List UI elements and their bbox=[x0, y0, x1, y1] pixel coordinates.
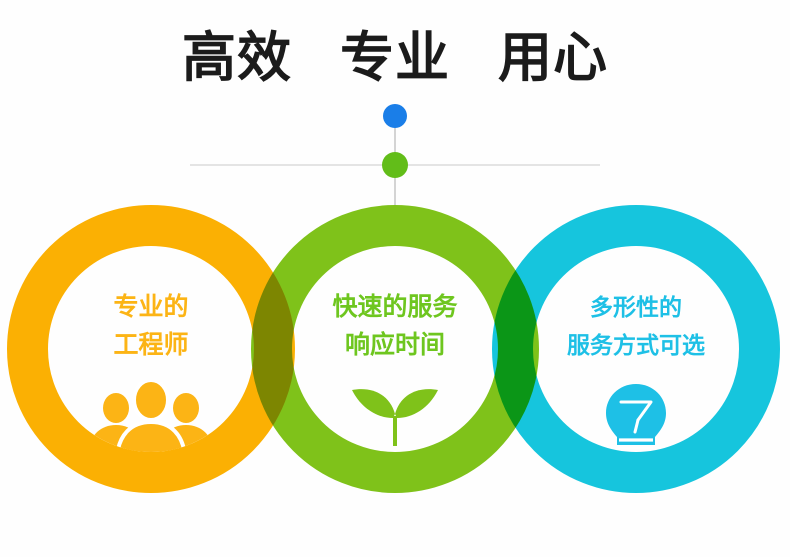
circle-label-response-time: 快速的服务 响应时间 bbox=[292, 246, 498, 364]
circle-response-line2: 响应时间 bbox=[292, 326, 498, 364]
circle-engineers-line2: 工程师 bbox=[48, 326, 254, 364]
circle-content-engineers: 专业的 工程师 bbox=[48, 246, 254, 452]
circle-service-line1: 多形性的 bbox=[590, 294, 682, 320]
circle-response-line1: 快速的服务 bbox=[332, 293, 457, 321]
sprout-leaf-icon bbox=[292, 382, 498, 452]
infographic-canvas: 高效专业用心 专业的 工程师 bbox=[0, 0, 790, 557]
circle-engineers-line1: 专业的 bbox=[113, 293, 188, 321]
team-people-icon bbox=[48, 382, 254, 452]
circle-label-engineers: 专业的 工程师 bbox=[48, 246, 254, 364]
circle-label-service-modes: 多形性的 服务方式可选 bbox=[533, 246, 739, 364]
circle-content-service-modes: 多形性的 服务方式可选 bbox=[533, 246, 739, 452]
circle-content-response-time: 快速的服务 响应时间 bbox=[292, 246, 498, 452]
circle-service-line2: 服务方式可选 bbox=[533, 326, 739, 364]
lightbulb-icon bbox=[533, 382, 739, 452]
